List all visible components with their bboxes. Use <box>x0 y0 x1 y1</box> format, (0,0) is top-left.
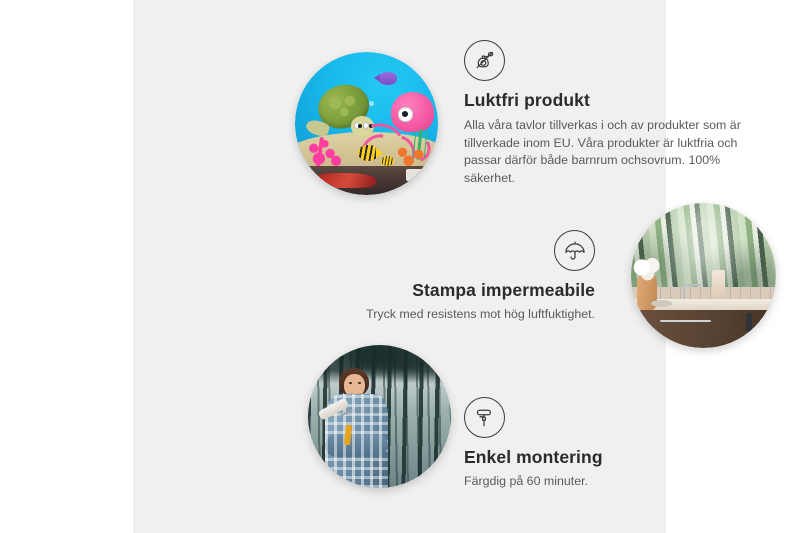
feature-easy-install: Enkel montering Färgdig på 60 minuter. <box>464 397 734 491</box>
feature-waterproof: Stampa impermeabile Tryck med resistens … <box>307 230 595 324</box>
underwater-cartoon-image <box>295 52 438 195</box>
turtle-pupil <box>358 124 362 128</box>
bathroom-wallpaper-photo <box>631 203 776 348</box>
feature-title: Enkel montering <box>464 447 734 468</box>
feature-body: Alla våra tavlor tillverkas i och av pro… <box>464 117 750 187</box>
person-arms <box>325 434 388 457</box>
room-floor-strip <box>295 166 438 195</box>
wooden-vanity <box>637 310 776 348</box>
forest-canopy <box>308 345 451 394</box>
bathroom-image <box>631 203 776 348</box>
umbrella-icon <box>554 230 595 271</box>
installer-forest-photo <box>308 345 451 488</box>
purple-fish <box>378 72 397 85</box>
soap-bottle <box>712 270 725 302</box>
paint-roller-icon <box>464 397 505 438</box>
feature-body: Tryck med resistens mot hög luftfuktighe… <box>307 306 595 324</box>
page-root: Luktfri produkt Alla våra tavlor tillver… <box>0 0 800 533</box>
content-panel: Luktfri produkt Alla våra tavlor tillver… <box>133 0 666 533</box>
feature-title: Stampa impermeabile <box>307 280 595 301</box>
orange-coral <box>395 141 429 170</box>
underwater-cartoon-photo <box>295 52 438 195</box>
octopus-eye <box>398 107 413 121</box>
yellow-striped-fish <box>358 145 378 161</box>
pink-coral <box>306 129 349 166</box>
octopus-head <box>391 92 434 132</box>
installer-image <box>308 345 451 488</box>
feature-title: Luktfri produkt <box>464 90 750 111</box>
feature-odourless: Luktfri produkt Alla våra tavlor tillver… <box>464 40 750 187</box>
feature-body: Färgdig på 60 minuter. <box>464 473 734 491</box>
no-fragrance-icon <box>464 40 505 81</box>
white-flowers <box>631 255 663 281</box>
